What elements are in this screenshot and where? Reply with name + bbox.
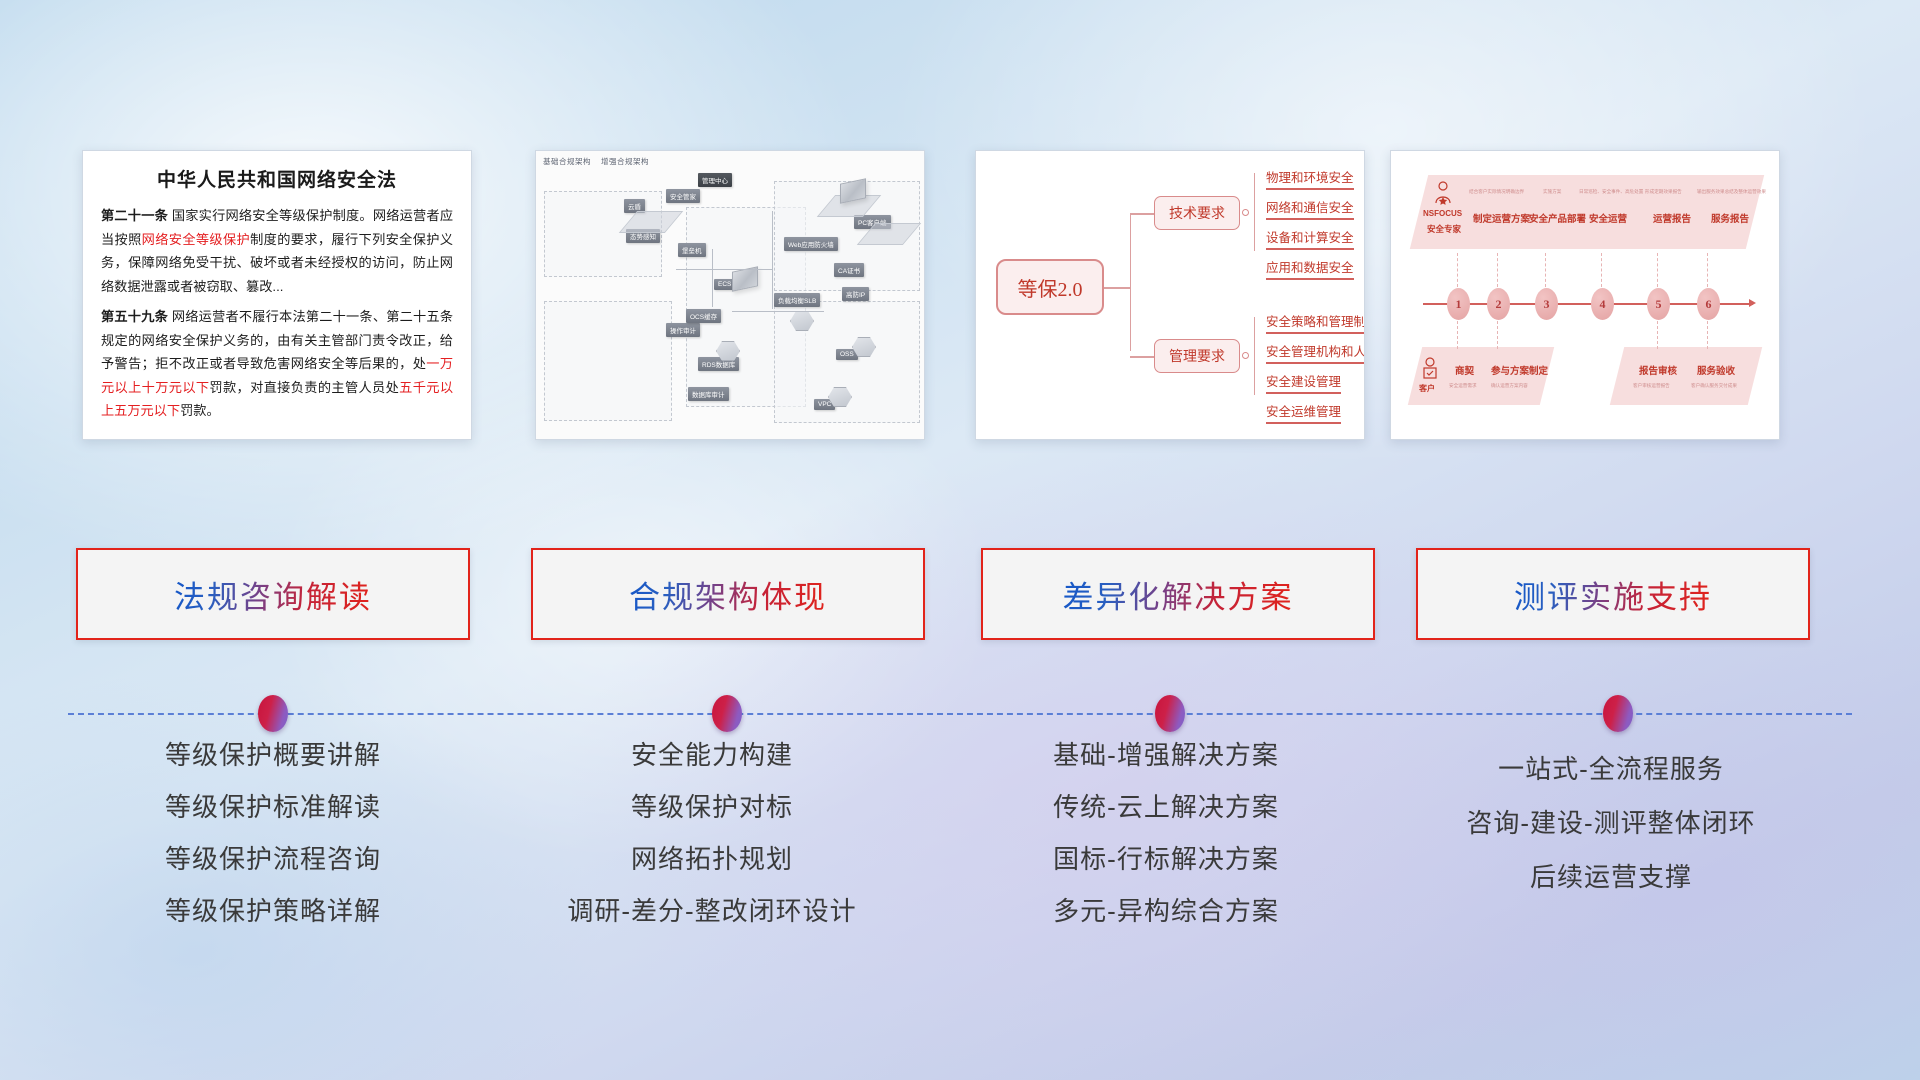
timeline-dashed-line (68, 713, 1852, 715)
roadmap: NSFOCUS 安全专家 结合客户实际情况明确边界 制定运营方案 实施方案 安全… (1391, 151, 1779, 439)
law-a59-p2: 罚款，对直接负责的主管人员处 (209, 380, 399, 395)
mindmap-card: 等保2.0 技术要求 管理要求 物理和环境安全 网络和通信安全 设备和计算安全 … (975, 150, 1365, 440)
mm-collapse-dot-tech[interactable] (1242, 209, 1249, 216)
mm-leaf-tech-2: 设备和计算安全 (1266, 227, 1354, 250)
roadmap-step-5: 5 (1647, 288, 1670, 320)
mm-collapse-dot-mgmt[interactable] (1242, 352, 1249, 359)
law-a59-p4: 罚款。 (180, 403, 220, 418)
section-title-text-4: 测评实施支持 (1514, 572, 1712, 617)
list-item: 国标-行标解决方案 (951, 846, 1381, 872)
roadmap-dash-b1 (1497, 321, 1498, 349)
mm-leaf-mgmt-2: 安全建设管理 (1266, 371, 1341, 394)
timeline-dot-3 (1155, 695, 1185, 732)
section-title-box-3[interactable]: 差异化解决方案 (981, 548, 1375, 640)
bullet-column-1: 等级保护概要讲解 等级保护标准解读 等级保护流程咨询 等级保护策略详解 (58, 742, 488, 950)
roadmap-step-3: 3 (1535, 288, 1558, 320)
roadmap-top-main-4: 服务报告 (1711, 211, 1749, 225)
roadmap-br-sub-0: 客户审核运营报告 (1633, 383, 1670, 389)
roadmap-expert-line2: 安全专家 (1427, 223, 1461, 235)
roadmap-customer-label: 客户 (1419, 383, 1435, 394)
roadmap-dash-b3 (1707, 321, 1708, 349)
arch-link-4 (732, 311, 824, 312)
timeline-dot-2 (712, 695, 742, 732)
roadmap-dash-4 (1657, 253, 1658, 287)
list-item: 等级保护流程咨询 (58, 846, 488, 872)
arch-node-guanjia: 安全管家 (666, 189, 700, 203)
arch-node-ocs: OCS缓存 (686, 309, 721, 323)
roadmap-step-4: 4 (1591, 288, 1614, 320)
mm-leaf-tech-1: 网络和通信安全 (1266, 197, 1354, 220)
timeline-dot-4 (1603, 695, 1633, 732)
roadmap-dash-1 (1497, 253, 1498, 287)
arch-header-0: 基础合规架构 (543, 157, 591, 166)
roadmap-step-6: 6 (1697, 288, 1720, 320)
roadmap-br-main-0: 报告审核 (1639, 363, 1677, 377)
mindmap-branch-tech: 技术要求 (1154, 196, 1240, 230)
law-title: 中华人民共和国网络安全法 (101, 165, 453, 192)
section-title-box-1[interactable]: 法规咨询解读 (76, 548, 470, 640)
law-a21-p1: 网络安全等级保护 (142, 232, 250, 247)
mm-fan-mgmt (1254, 317, 1255, 395)
arch-node-waf: Web应用防火墙 (784, 237, 838, 251)
roadmap-top-main-1: 安全产品部署 (1529, 211, 1586, 225)
image-card-row: 中华人民共和国网络安全法 第二十一条 国家实行网络安全等级保护制度。网络运营者应… (0, 0, 1920, 450)
roadmap-bl-main-0: 商契 (1455, 363, 1474, 377)
list-item: 调研-差分-整改闭环设计 (497, 898, 927, 924)
arch-link-1 (676, 269, 772, 270)
arch-node-ca: CA证书 (834, 263, 864, 277)
roadmap-top-main-0: 制定运营方案 (1473, 211, 1530, 225)
roadmap-step-2: 2 (1487, 288, 1510, 320)
roadmap-top-sub-0: 结合客户实际情况明确边界 (1469, 189, 1524, 195)
list-item: 后续运营支撑 (1396, 864, 1826, 890)
list-item: 咨询-建设-测评整体闭环 (1396, 810, 1826, 836)
mindmap-root: 等保2.0 (996, 259, 1104, 315)
roadmap-band-bottom-right (1610, 347, 1762, 405)
timeline-dot-1 (258, 695, 288, 732)
bullet-column-2: 安全能力构建 等级保护对标 网络拓扑规划 调研-差分-整改闭环设计 (497, 742, 927, 950)
roadmap-bl-main-1: 参与方案制定 (1491, 363, 1548, 377)
list-item: 网络拓扑规划 (497, 846, 927, 872)
customer-icon (1421, 357, 1439, 379)
architecture-diagram: 基础合规架构增强合规架构 管理中心 云盾 安全管家 态势感知 堡垒机 数据库审计… (536, 151, 924, 439)
security-expert-icon (1433, 181, 1453, 205)
list-item: 等级保护概要讲解 (58, 742, 488, 768)
mm-trunk-mgmt (1130, 356, 1154, 358)
section-title-text-2: 合规架构体现 (629, 572, 827, 617)
list-item: 基础-增强解决方案 (951, 742, 1381, 768)
list-item: 安全能力构建 (497, 742, 927, 768)
section-title-row: 法规咨询解读 合规架构体现 差异化解决方案 测评实施支持 (0, 548, 1920, 644)
arch-zone-left-bottom (544, 301, 672, 421)
roadmap-expert-line1: NSFOCUS (1423, 209, 1462, 218)
list-item: 等级保护对标 (497, 794, 927, 820)
mm-leaf-mgmt-3: 安全运维管理 (1266, 401, 1341, 424)
list-item: 等级保护标准解读 (58, 794, 488, 820)
mindmap-branch-mgmt: 管理要求 (1154, 339, 1240, 373)
roadmap-dash-b0 (1457, 321, 1458, 349)
section-title-text-3: 差异化解决方案 (1063, 572, 1294, 617)
roadmap-bl-sub-1: 确认运营方案内容 (1491, 383, 1528, 389)
roadmap-dash-3 (1601, 253, 1602, 287)
list-item: 一站式-全流程服务 (1396, 756, 1826, 782)
arch-node-ddos: 高防IP (842, 287, 869, 301)
law-article-21-label: 第二十一条 (101, 208, 168, 223)
arch-node-slb: 负载均衡SLB (774, 293, 820, 307)
mm-trunk-a (1104, 287, 1130, 289)
roadmap-dash-2 (1545, 253, 1546, 287)
list-item: 多元-异构综合方案 (951, 898, 1381, 924)
poster-canvas: 中华人民共和国网络安全法 第二十一条 国家实行网络安全等级保护制度。网络运营者应… (0, 0, 1920, 1080)
bullet-column-row: 等级保护概要讲解 等级保护标准解读 等级保护流程咨询 等级保护策略详解 安全能力… (0, 742, 1920, 992)
section-title-box-4[interactable]: 测评实施支持 (1416, 548, 1810, 640)
arch-link-2 (772, 211, 773, 309)
roadmap-top-main-2: 安全运营 (1589, 211, 1627, 225)
roadmap-br-sub-1: 客户确认服务交付成果 (1691, 383, 1737, 389)
law-text-card: 中华人民共和国网络安全法 第二十一条 国家实行网络安全等级保护制度。网络运营者应… (82, 150, 472, 440)
mm-leaf-mgmt-0: 安全策略和管理制度 (1266, 311, 1365, 334)
roadmap-dash-b2 (1657, 321, 1658, 349)
section-title-text-1: 法规咨询解读 (174, 572, 372, 617)
arch-node-title: 管理中心 (698, 173, 732, 187)
list-item: 等级保护策略详解 (58, 898, 488, 924)
arch-node-baolei: 堡垒机 (678, 243, 706, 257)
arch-node-dbaudit: 数据库审计 (688, 387, 729, 401)
mm-leaf-mgmt-1: 安全管理机构和人员 (1266, 341, 1365, 364)
bullet-column-3: 基础-增强解决方案 传统-云上解决方案 国标-行标解决方案 多元-异构综合方案 (951, 742, 1381, 950)
mindmap: 等保2.0 技术要求 管理要求 物理和环境安全 网络和通信安全 设备和计算安全 … (976, 151, 1364, 439)
roadmap-dash-0 (1457, 253, 1458, 287)
roadmap-top-sub-2: 日常巡检、安全事件、高危处置 (1579, 189, 1643, 195)
architecture-header: 基础合规架构增强合规架构 (543, 156, 659, 167)
roadmap-step-1: 1 (1447, 288, 1470, 320)
mm-leaf-tech-3: 应用和数据安全 (1266, 257, 1354, 280)
section-title-box-2[interactable]: 合规架构体现 (531, 548, 925, 640)
roadmap-top-sub-3: 形成定期效果报告 (1645, 189, 1682, 195)
mm-trunk-b (1130, 213, 1131, 351)
law-article-59: 第五十九条 网络运营者不履行本法第二十一条、第二十五条规定的网络安全保护义务的，… (101, 305, 453, 423)
roadmap-top-main-3: 运营报告 (1653, 211, 1691, 225)
arch-node-audit: 操作审计 (666, 323, 700, 337)
roadmap-bl-sub-0: 安全运营需求 (1449, 383, 1477, 389)
roadmap-arrow-icon (1749, 299, 1756, 307)
roadmap-br-main-1: 服务验收 (1697, 363, 1735, 377)
timeline (0, 694, 1920, 734)
mm-trunk-tech (1130, 213, 1154, 215)
list-item: 传统-云上解决方案 (951, 794, 1381, 820)
roadmap-dash-5 (1707, 253, 1708, 287)
mm-leaf-tech-0: 物理和环境安全 (1266, 167, 1354, 190)
architecture-diagram-card: 基础合规架构增强合规架构 管理中心 云盾 安全管家 态势感知 堡垒机 数据库审计… (535, 150, 925, 440)
arch-header-1: 增强合规架构 (601, 157, 649, 166)
law-article-59-label: 第五十九条 (101, 309, 168, 324)
roadmap-top-sub-4: 输出服务效果总结及整体运营效果 (1697, 189, 1766, 195)
law-article-21: 第二十一条 国家实行网络安全等级保护制度。网络运营者应当按照网络安全等级保护制度… (101, 204, 453, 298)
law-body: 中华人民共和国网络安全法 第二十一条 国家实行网络安全等级保护制度。网络运营者应… (83, 151, 471, 440)
arch-link-3 (712, 249, 713, 307)
roadmap-card: NSFOCUS 安全专家 结合客户实际情况明确边界 制定运营方案 实施方案 安全… (1390, 150, 1780, 440)
mm-fan-tech (1254, 173, 1255, 251)
bullet-column-4: 一站式-全流程服务 咨询-建设-测评整体闭环 后续运营支撑 (1396, 756, 1826, 918)
roadmap-top-sub-1: 实施方案 (1543, 189, 1561, 195)
